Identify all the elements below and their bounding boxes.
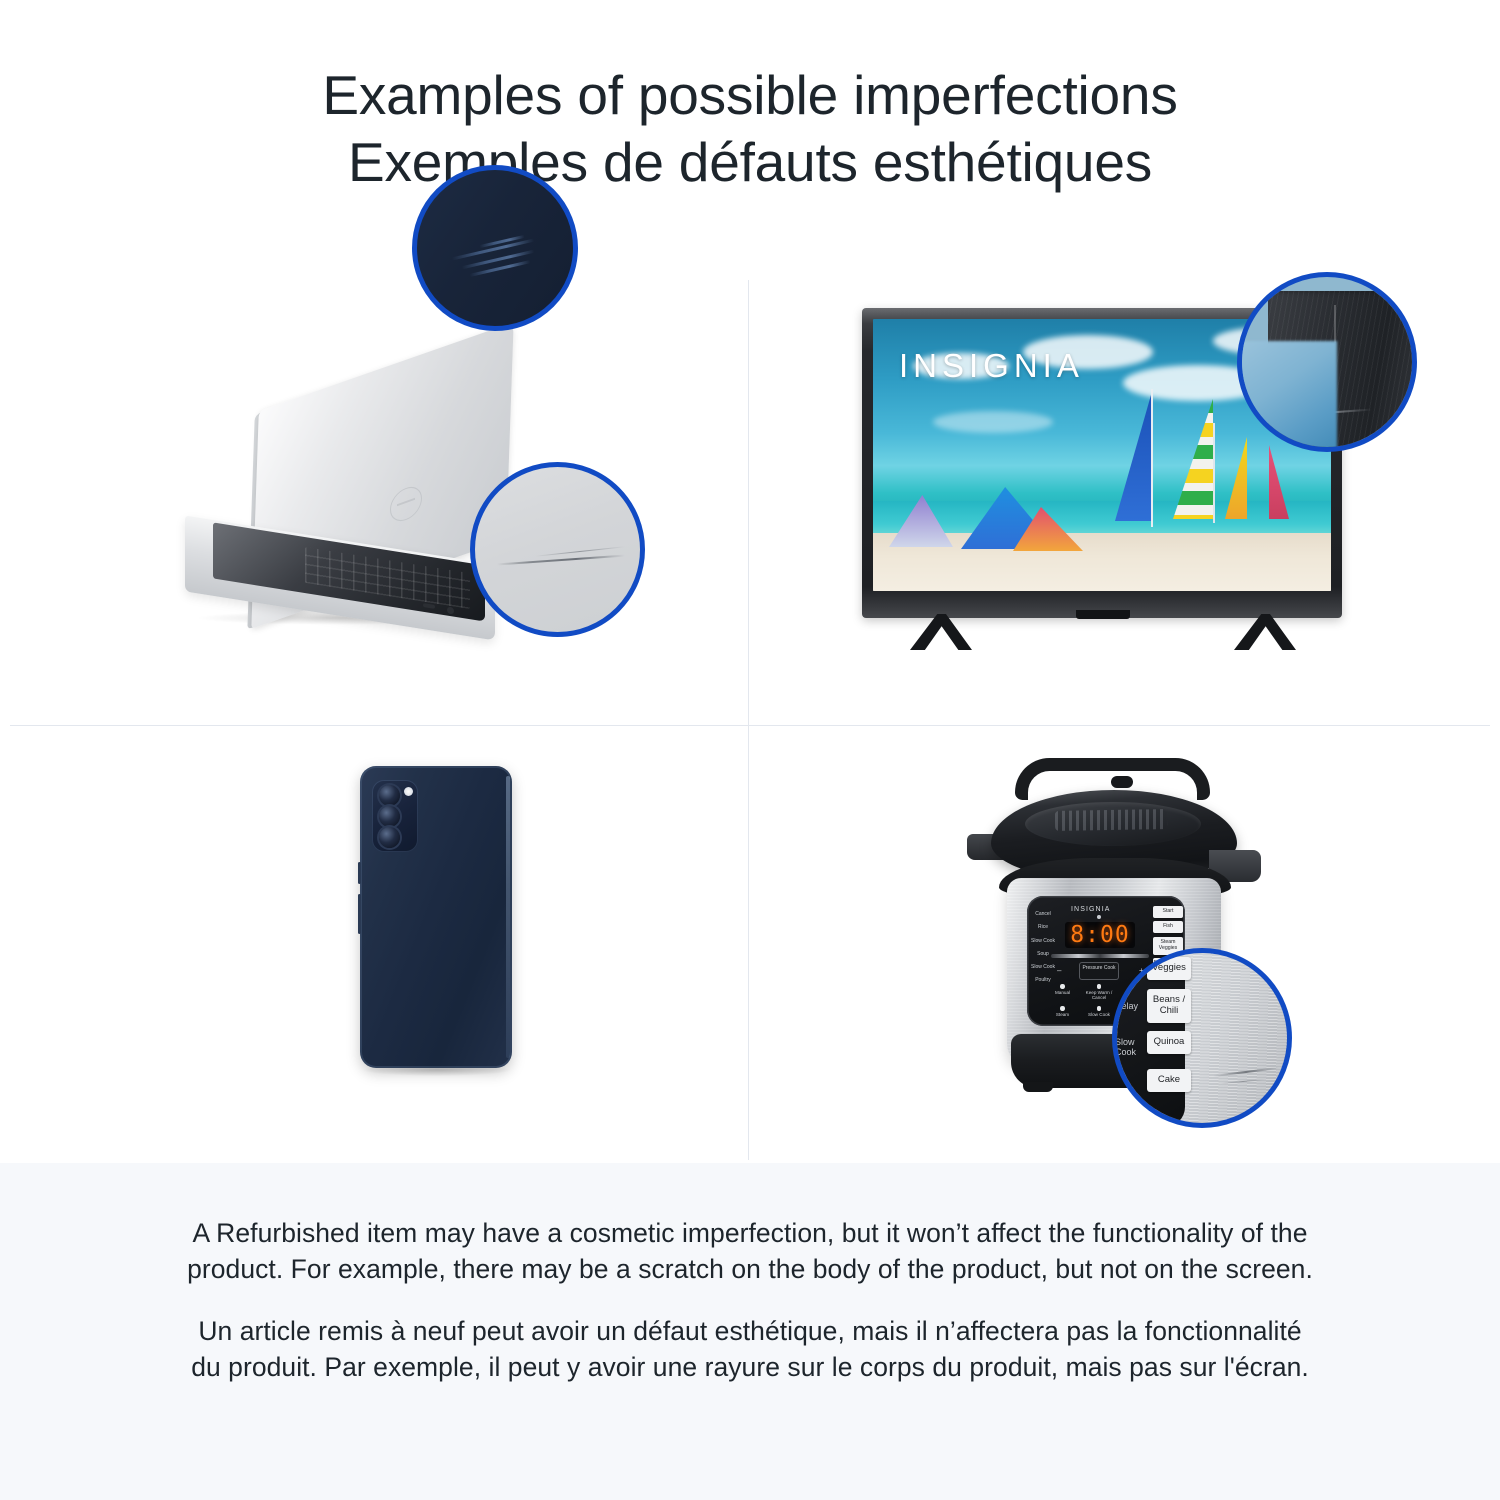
cooker-foot-left: [1023, 1082, 1053, 1092]
tv-scene-mast: [1213, 423, 1215, 523]
tv-scene-mast: [1151, 389, 1153, 527]
phone-volume-button: [358, 862, 361, 884]
phone-image: [360, 766, 520, 1086]
page-title-en: Examples of possible imperfections: [322, 62, 1177, 129]
cooker-grid-button[interactable]: Keep Warm / Cancel: [1084, 984, 1115, 1000]
magnifier-phone: [412, 165, 578, 331]
tv-scene-sail-striped: [1173, 399, 1213, 519]
phone-edge-highlight: [506, 776, 510, 1058]
cooker-grid-label: Steam: [1056, 1012, 1069, 1017]
cooker-grid-button[interactable]: Manual: [1047, 984, 1078, 1000]
cooker-zoom-button-beans-chili[interactable]: Beans / Chili: [1147, 989, 1191, 1023]
camera-lens-icon: [379, 785, 400, 806]
tv-leg-left: [910, 614, 972, 650]
tv-bezel-seam: [1334, 305, 1336, 343]
magnifier-laptop: [470, 462, 645, 637]
cooker-lid-label: [1055, 809, 1167, 831]
cooker-pressure-cook-button[interactable]: Pressure Cook: [1079, 962, 1119, 980]
cooker-led-icon: [1060, 1006, 1065, 1011]
tv-leg-right: [1234, 614, 1296, 650]
cooker-zoom-button-cake[interactable]: Cake: [1147, 1069, 1191, 1092]
cooker-indicator-light: [1097, 915, 1101, 919]
laptop-scratch-mark: [497, 555, 625, 566]
cooker-minus-button[interactable]: –: [1057, 966, 1061, 975]
cooker-zoom-side-label: Delay: [1115, 1001, 1141, 1011]
product-cell-laptop: [0, 258, 748, 725]
tv-brand-logo: INSIGNIA: [899, 347, 1084, 385]
cooker-zoom-side-label: Slow Cook: [1115, 1037, 1141, 1057]
cooker-pressure-cook-label: Pressure Cook: [1079, 965, 1119, 971]
magnifier-cooker: Delay Slow Cook Veggies Beans / Chili Qu…: [1112, 948, 1292, 1128]
cooker-display: 8:00: [1065, 922, 1135, 948]
imperfections-infographic: Examples of possible imperfections Exemp…: [0, 0, 1500, 1500]
tv-center-chin: [1076, 610, 1130, 619]
tv-scene-sail-blue: [1115, 395, 1151, 521]
cooker-brand-label: INSIGNIA: [1071, 906, 1111, 913]
cooker-left-label-column: Cancel Rice Slow Cook Soup Slow Cook Pou…: [1030, 912, 1056, 992]
footer-paragraph-en: A Refurbished item may have a cosmetic i…: [186, 1215, 1314, 1287]
cooker-button-start[interactable]: Start: [1153, 906, 1183, 918]
tv-scene-cloud: [933, 411, 1053, 433]
product-cell-phone: [0, 726, 748, 1163]
page-footer: A Refurbished item may have a cosmetic i…: [0, 1163, 1500, 1500]
cooker-zoom-button-quinoa[interactable]: Quinoa: [1147, 1031, 1191, 1054]
cooker-zoom-side-labels: Delay Slow Cook: [1115, 1001, 1141, 1083]
cooker-led-icon: [1097, 1006, 1102, 1011]
magnifier-tv: [1237, 272, 1417, 452]
cooker-grid-label: Manual: [1055, 990, 1070, 995]
cooker-left-label: Rice: [1030, 925, 1056, 931]
phone-camera-module: [372, 780, 418, 852]
laptop-image: [185, 368, 525, 638]
tv-screen-zoom: [1237, 341, 1337, 452]
cooker-led-icon: [1060, 984, 1065, 989]
cooker-display-value: 8:00: [1070, 924, 1129, 947]
cooker-left-label: Cancel: [1030, 912, 1056, 918]
cooker-steam-valve: [1111, 776, 1133, 788]
camera-lens-icon: [379, 827, 400, 848]
page-header: Examples of possible imperfections Exemp…: [0, 0, 1500, 258]
laptop-audio-port: [447, 606, 454, 614]
cooker-grid-label: Slow Cook: [1088, 1012, 1110, 1017]
footer-paragraph-fr: Un article remis à neuf peut avoir un dé…: [186, 1313, 1314, 1385]
cooker-left-label: Slow Cook: [1030, 939, 1056, 945]
cooker-grid-button[interactable]: Slow Cook: [1084, 1006, 1115, 1017]
tv-scene-sail-yellow: [1225, 437, 1247, 519]
cooker-left-label: Soup: [1030, 952, 1056, 958]
cooker-grid-button[interactable]: Steam: [1047, 1006, 1078, 1017]
phone-power-button: [358, 894, 361, 934]
cooker-button-fish[interactable]: Fish: [1153, 921, 1183, 933]
cooker-left-label: Slow Cook: [1030, 965, 1056, 971]
camera-flash-icon: [404, 787, 413, 796]
camera-lens-icon: [379, 806, 400, 827]
cooker-zoom-button-veggies[interactable]: Veggies: [1147, 957, 1191, 980]
cooker-grid-label: Keep Warm / Cancel: [1086, 990, 1113, 1000]
cooker-led-icon: [1097, 984, 1102, 989]
phone-body: [360, 766, 512, 1068]
